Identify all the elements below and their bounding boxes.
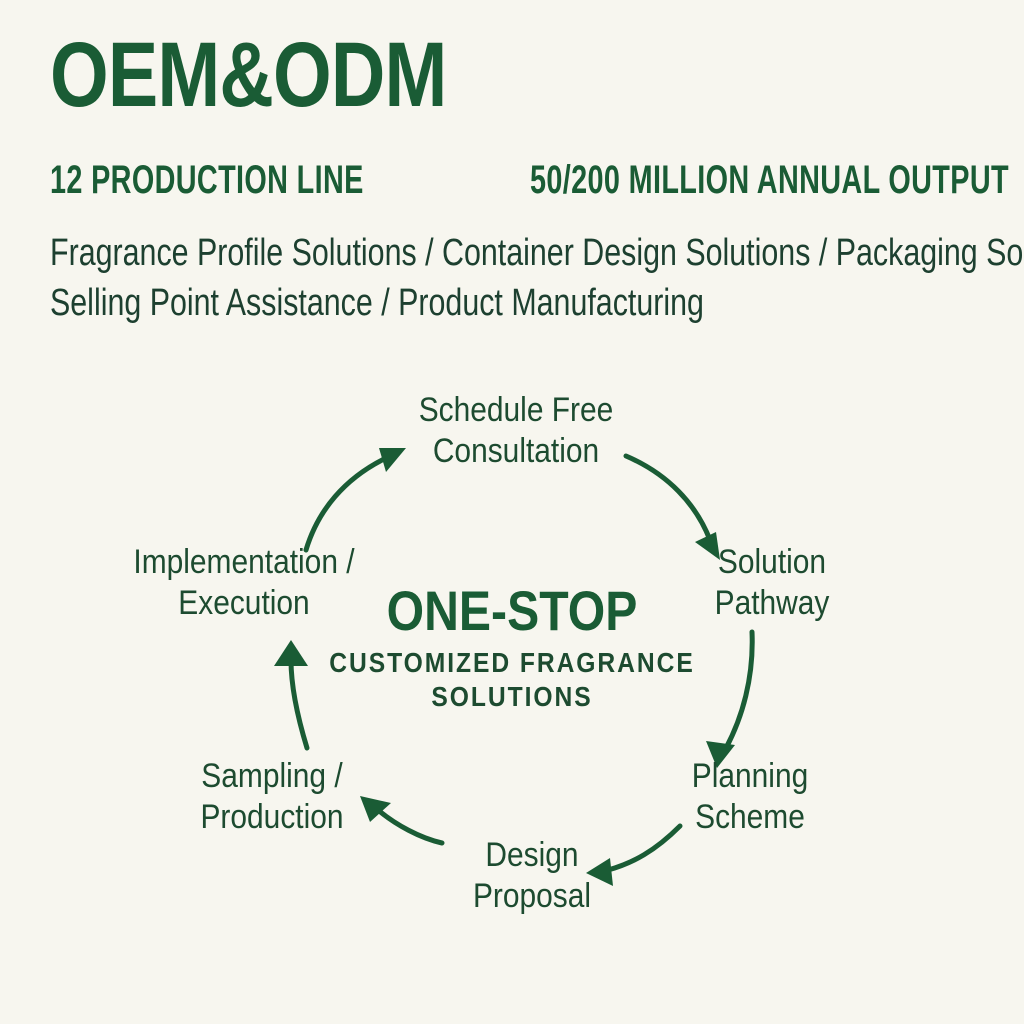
stat-annual-output: 50/200 MILLION ANNUAL OUTPUT [530, 158, 1009, 202]
cycle-center-block: ONE-STOP CUSTOMIZED FRAGRANCE SOLUTIONS [282, 582, 742, 714]
cycle-node-design-proposal: Design Proposal [444, 835, 620, 917]
stat-production-line: 12 PRODUCTION LINE [50, 158, 364, 202]
cycle-node-planning-scheme: Planning Scheme [662, 756, 838, 838]
process-cycle-diagram: Schedule Free Consultation Solution Path… [0, 360, 1024, 960]
page-title: OEM&ODM [50, 30, 837, 120]
header-block: OEM&ODM 12 PRODUCTION LINE 50/200 MILLIO… [50, 30, 1010, 120]
cycle-center-subline: CUSTOMIZED FRAGRANCE SOLUTIONS [310, 646, 715, 714]
arrow-implementation-to-consultation [306, 448, 406, 550]
service-description-line-1: Fragrance Profile Solutions / Container … [50, 228, 842, 278]
cycle-node-sampling-production: Sampling / Production [175, 756, 369, 838]
cycle-center-headline: ONE-STOP [314, 582, 710, 640]
arrow-design-to-sampling [360, 796, 442, 843]
poster-canvas: OEM&ODM 12 PRODUCTION LINE 50/200 MILLIO… [0, 0, 1024, 1024]
service-description-line-2: Selling Point Assistance / Product Manuf… [50, 278, 842, 328]
cycle-node-schedule-free-consultation: Schedule Free Consultation [393, 390, 639, 472]
stats-row: 12 PRODUCTION LINE 50/200 MILLION ANNUAL… [50, 158, 1010, 204]
service-description-list: Fragrance Profile Solutions / Container … [50, 228, 1024, 328]
